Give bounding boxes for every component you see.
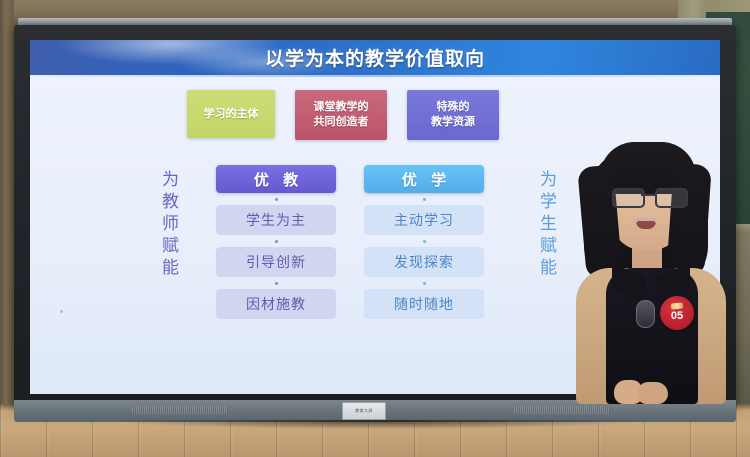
concept-chip-co-creator: 课堂教学的 共同创造者 <box>295 90 387 140</box>
column-header-you-xue: 优 学 <box>364 165 484 193</box>
glasses-bridge <box>641 194 655 196</box>
board-stray-mark <box>60 310 63 313</box>
slide-title: 以学为本的教学价值取向 <box>30 40 720 75</box>
speaker-grille-right <box>514 406 610 414</box>
lens-left <box>612 188 645 208</box>
concept-chip-learning-subject: 学习的主体 <box>187 90 275 138</box>
flow-item: 学生为主 <box>216 205 336 235</box>
chip-line: 课堂教学的 <box>314 100 369 115</box>
connector-dot <box>216 193 336 205</box>
chip-line: 教学资源 <box>431 115 475 130</box>
concept-chip-row: 学习的主体 课堂教学的 共同创造者 特殊的 教学资源 <box>30 90 720 140</box>
column-header-you-jiao: 优 教 <box>216 165 336 193</box>
flow-item: 引导创新 <box>216 247 336 277</box>
brooch-pendant <box>636 300 655 328</box>
chip-line: 特殊的 <box>437 100 470 115</box>
badge-ribbon-icon <box>671 302 684 309</box>
speaker-grille-left <box>132 406 228 414</box>
connector-dot <box>216 277 336 289</box>
chip-line: 共同创造者 <box>314 115 369 130</box>
flow-item: 随时随地 <box>364 289 484 319</box>
connector-dot <box>364 193 484 205</box>
flow-item: 因材施教 <box>216 289 336 319</box>
column-excellent-learning: 优 学 主动学习 发现探索 随时随地 <box>364 165 484 319</box>
classroom-scene: 以学为本的教学价值取向 学习的主体 课堂教学的 共同创造者 特殊的 教学资源 为… <box>0 0 750 457</box>
panel-drop-shadow <box>120 420 640 429</box>
wall-left-edge <box>0 0 14 457</box>
contestant-badge: 05 <box>660 296 694 330</box>
connector-dot <box>364 277 484 289</box>
flow-item: 主动学习 <box>364 205 484 235</box>
hair-right-side <box>666 163 712 277</box>
header-underline <box>30 75 720 77</box>
hand-right <box>638 382 668 404</box>
presenter-person: 05 <box>556 136 750 404</box>
eyeglasses-icon <box>612 188 684 204</box>
connector-dot <box>364 235 484 247</box>
column-excellent-teaching: 优 教 学生为主 引导创新 因材施教 <box>216 165 336 319</box>
badge-number: 05 <box>671 311 683 322</box>
concept-chip-special-resource: 特殊的 教学资源 <box>407 90 499 140</box>
lens-right <box>655 188 688 208</box>
mouth <box>636 218 656 229</box>
panel-brand-label: 教育大屏 <box>342 402 386 420</box>
connector-dot <box>216 235 336 247</box>
flow-item: 发现探索 <box>364 247 484 277</box>
chip-line: 学习的主体 <box>204 107 259 122</box>
